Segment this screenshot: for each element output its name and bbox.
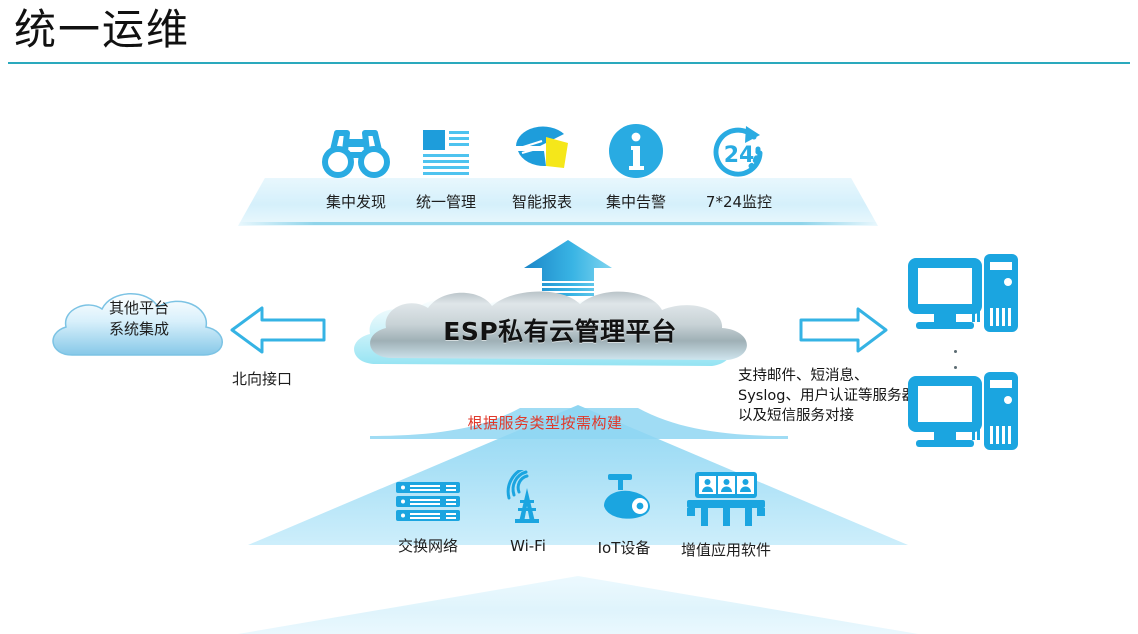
header-divider — [8, 62, 1130, 64]
binoculars-icon — [306, 124, 406, 185]
service-item-app[interactable]: 增值应用软件 — [666, 470, 786, 560]
desktop-computer-icon — [906, 250, 1022, 346]
capability-shelf-edge — [238, 222, 878, 225]
arrow-right-icon — [796, 305, 892, 355]
capability-label: 统一管理 — [396, 191, 496, 212]
service-label: 交换网络 — [380, 535, 476, 556]
arrow-left-icon — [226, 303, 330, 357]
desktop-computer-icon — [906, 368, 1022, 464]
capability-label: 智能报表 — [492, 191, 592, 212]
capability-item-report[interactable]: 智能报表 — [492, 120, 592, 212]
info-circle-icon — [586, 122, 686, 185]
service-label: IoT设备 — [576, 537, 672, 558]
pie-chart-icon — [492, 120, 592, 185]
northbound-interface-label: 北向接口 — [232, 368, 292, 389]
page-title: 统一运维 — [14, 6, 190, 54]
capability-item-management[interactable]: 统一管理 — [396, 124, 496, 212]
document-icon — [396, 124, 496, 185]
service-item-wifi[interactable]: Wi-Fi — [480, 470, 576, 555]
network-switch-icon — [380, 478, 476, 529]
service-label: 增值应用软件 — [666, 539, 786, 560]
service-item-network[interactable]: 交换网络 — [380, 478, 476, 556]
base-band — [238, 576, 918, 634]
central-platform-cloud[interactable]: ESP私有云管理平台 — [330, 278, 790, 374]
capability-label: 集中发现 — [306, 191, 406, 212]
central-platform-label: ESP私有云管理平台 — [330, 278, 790, 374]
ip-camera-icon — [576, 472, 672, 531]
capability-item-alarm[interactable]: 集中告警 — [586, 122, 686, 212]
capability-label: 集中告警 — [586, 191, 686, 212]
service-items-row: 交换网络 Wi-Fi — [370, 478, 790, 548]
video-wall-icon — [666, 470, 786, 533]
service-label: Wi-Fi — [480, 537, 576, 555]
build-on-demand-note: 根据服务类型按需构建 — [380, 412, 710, 433]
service-item-iot[interactable]: IoT设备 — [576, 472, 672, 558]
svg-text:24: 24 — [724, 143, 755, 168]
wifi-antenna-icon — [480, 470, 576, 531]
clock-24-icon: 24 — [684, 122, 794, 185]
capability-item-discovery[interactable]: 集中发现 — [306, 124, 406, 212]
other-platform-label: 其他平台 系统集成 — [44, 298, 234, 340]
other-platform-line2: 系统集成 — [44, 319, 234, 340]
other-platform-line1: 其他平台 — [44, 298, 234, 319]
slide-canvas: 统一运维 集中发现 — [0, 0, 1138, 634]
capability-label: 7*24监控 — [684, 191, 794, 212]
capability-item-monitor[interactable]: 24 7*24监控 — [684, 122, 794, 212]
